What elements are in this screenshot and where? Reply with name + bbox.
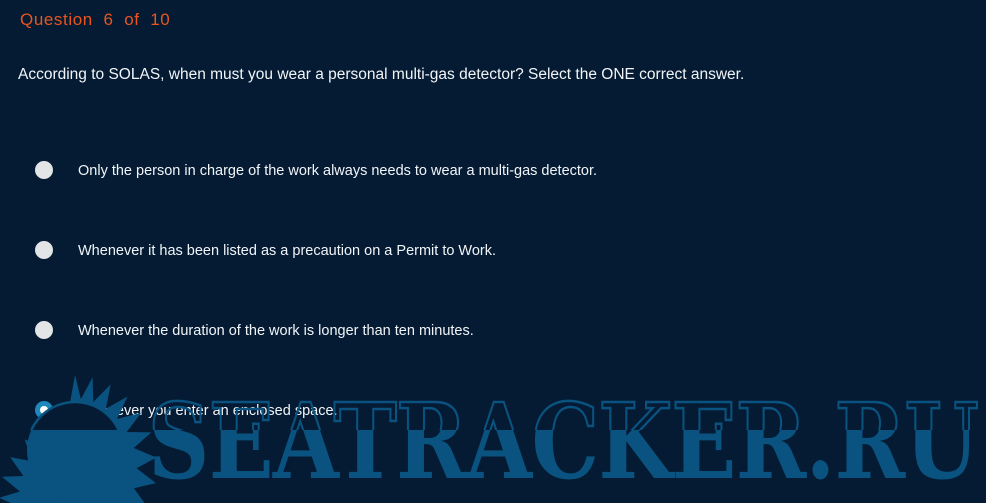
answer-option-label-2: Whenever it has been listed as a precaut… bbox=[78, 242, 496, 260]
answer-option-3[interactable]: Whenever the duration of the work is lon… bbox=[0, 309, 986, 389]
radio-button-icon-3[interactable] bbox=[35, 321, 53, 339]
radio-button-icon-1[interactable] bbox=[35, 161, 53, 179]
answer-option-2[interactable]: Whenever it has been listed as a precaut… bbox=[0, 229, 986, 309]
question-counter: Question 6 of 10 bbox=[20, 10, 170, 30]
radio-button-icon-2[interactable] bbox=[35, 241, 53, 259]
quiz-content: Question 6 of 10 According to SOLAS, whe… bbox=[0, 0, 986, 503]
answer-option-1[interactable]: Only the person in charge of the work al… bbox=[0, 149, 986, 229]
answer-options-list: Only the person in charge of the work al… bbox=[0, 149, 986, 469]
answer-option-label-3: Whenever the duration of the work is lon… bbox=[78, 322, 474, 340]
answer-option-label-4: Whenever you enter an enclosed space. bbox=[78, 402, 338, 420]
radio-button-icon-4-selected[interactable] bbox=[35, 401, 53, 419]
question-prompt: According to SOLAS, when must you wear a… bbox=[18, 64, 808, 86]
quiz-question-screen: Question 6 of 10 According to SOLAS, whe… bbox=[0, 0, 986, 503]
answer-option-4[interactable]: Whenever you enter an enclosed space. bbox=[0, 389, 986, 469]
answer-option-label-1: Only the person in charge of the work al… bbox=[78, 162, 597, 180]
